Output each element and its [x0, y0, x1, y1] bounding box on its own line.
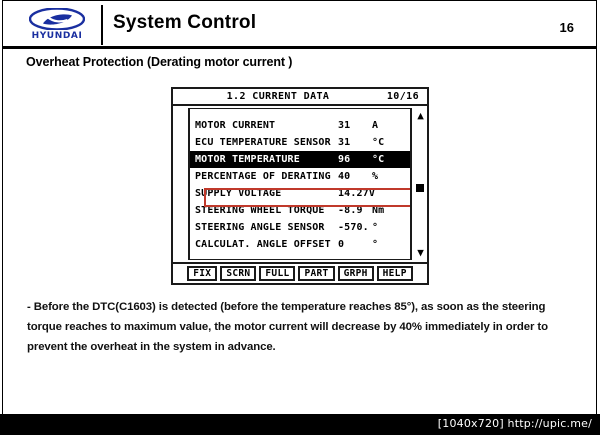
section-title: Overheat Protection (Derating motor curr… — [26, 55, 292, 69]
row-parameter-unit: °C — [372, 134, 384, 151]
page-number: 16 — [560, 20, 574, 35]
table-row[interactable]: CALCULAT. ANGLE OFFSET0° — [190, 236, 410, 253]
slide-header: HYUNDAI System Control 16 — [3, 1, 596, 46]
page-border-right — [596, 0, 597, 414]
row-parameter-unit: A — [372, 117, 378, 134]
row-parameter-value: 96 — [338, 151, 350, 168]
row-parameter-unit: ° — [372, 219, 378, 236]
scrollbar[interactable]: ▲ ▼ — [410, 108, 427, 260]
slide-page: HYUNDAI System Control 16 Overheat Prote… — [0, 0, 600, 435]
footer-watermark-text: [1040x720] http://upic.me/ — [438, 417, 592, 430]
page-border-left — [2, 0, 3, 414]
softkey-part-button[interactable]: PART — [298, 266, 334, 281]
row-parameter-value: 40 — [338, 168, 350, 185]
row-parameter-unit: Nm — [372, 202, 384, 219]
row-parameter-value: 31 — [338, 117, 350, 134]
row-parameter-name: MOTOR TEMPERATURE — [195, 151, 300, 168]
list-top-spacer — [190, 109, 410, 117]
scroll-down-arrow-icon[interactable]: ▼ — [414, 247, 427, 258]
scan-screen-title: 1.2 CURRENT DATA — [173, 91, 383, 102]
scroll-up-arrow-icon[interactable]: ▲ — [414, 110, 427, 121]
row-parameter-name: SUPPLY VOLTAGE — [195, 185, 281, 202]
row-parameter-name: STEERING WHEEL TORQUE — [195, 202, 325, 219]
softkey-grph-button[interactable]: GRPH — [338, 266, 374, 281]
row-parameter-unit: ° — [372, 236, 378, 253]
row-parameter-name: STEERING ANGLE SENSOR — [195, 219, 325, 236]
row-parameter-value: 0 — [338, 236, 344, 253]
table-row[interactable]: ✕MOTOR CURRENT31A — [190, 117, 410, 134]
description-paragraph: - Before the DTC(C1603) is detected (bef… — [27, 297, 574, 357]
hyundai-logo-icon: HYUNDAI — [21, 7, 93, 43]
hyundai-wordmark: HYUNDAI — [21, 31, 93, 41]
scan-screen-body: ✕MOTOR CURRENT31A✕ECU TEMPERATURE SENSOR… — [173, 106, 427, 264]
row-parameter-value: -570. — [338, 219, 369, 236]
row-parameter-unit: °C — [372, 151, 384, 168]
row-parameter-name: ECU TEMPERATURE SENSOR — [195, 134, 331, 151]
scan-screen-item-count: 10/16 — [387, 91, 419, 102]
row-parameter-name: CALCULAT. ANGLE OFFSET — [195, 236, 331, 253]
table-row[interactable]: ✕MOTOR TEMPERATURE96°C — [190, 151, 410, 168]
scrollbar-thumb[interactable] — [416, 184, 424, 192]
row-parameter-value: 31 — [338, 134, 350, 151]
softkey-full-button[interactable]: FULL — [259, 266, 295, 281]
row-parameter-value: 14.27V — [338, 185, 375, 202]
softkey-fix-button[interactable]: FIX — [187, 266, 217, 281]
softkey-bar: FIXSCRNFULLPARTGRPHHELP — [173, 262, 427, 283]
marker-column — [175, 108, 190, 260]
softkey-scrn-button[interactable]: SCRN — [220, 266, 256, 281]
row-parameter-value: -8.9 — [338, 202, 363, 219]
hyundai-oval-icon — [29, 8, 85, 30]
softkey-help-button[interactable]: HELP — [377, 266, 413, 281]
table-row[interactable]: STEERING ANGLE SENSOR-570.° — [190, 219, 410, 236]
row-parameter-name: MOTOR CURRENT — [195, 117, 275, 134]
page-title: System Control — [113, 12, 256, 34]
scan-tool-screen: 1.2 CURRENT DATA 10/16 ✕MOTOR CURRENT31A… — [171, 87, 429, 285]
current-data-list[interactable]: ✕MOTOR CURRENT31A✕ECU TEMPERATURE SENSOR… — [190, 108, 410, 260]
row-parameter-name: PERCENTAGE OF DERATING — [195, 168, 331, 185]
header-divider — [101, 5, 103, 45]
table-row[interactable]: ✕PERCENTAGE OF DERATING40% — [190, 168, 410, 185]
table-row[interactable]: SUPPLY VOLTAGE14.27V — [190, 185, 410, 202]
row-parameter-unit: % — [372, 168, 378, 185]
footer-watermark-bar: [1040x720] http://upic.me/ — [0, 414, 600, 435]
table-row[interactable]: ✕ECU TEMPERATURE SENSOR31°C — [190, 134, 410, 151]
table-row[interactable]: STEERING WHEEL TORQUE-8.9Nm — [190, 202, 410, 219]
scan-screen-titlebar: 1.2 CURRENT DATA 10/16 — [173, 89, 427, 106]
header-rule — [3, 46, 596, 49]
